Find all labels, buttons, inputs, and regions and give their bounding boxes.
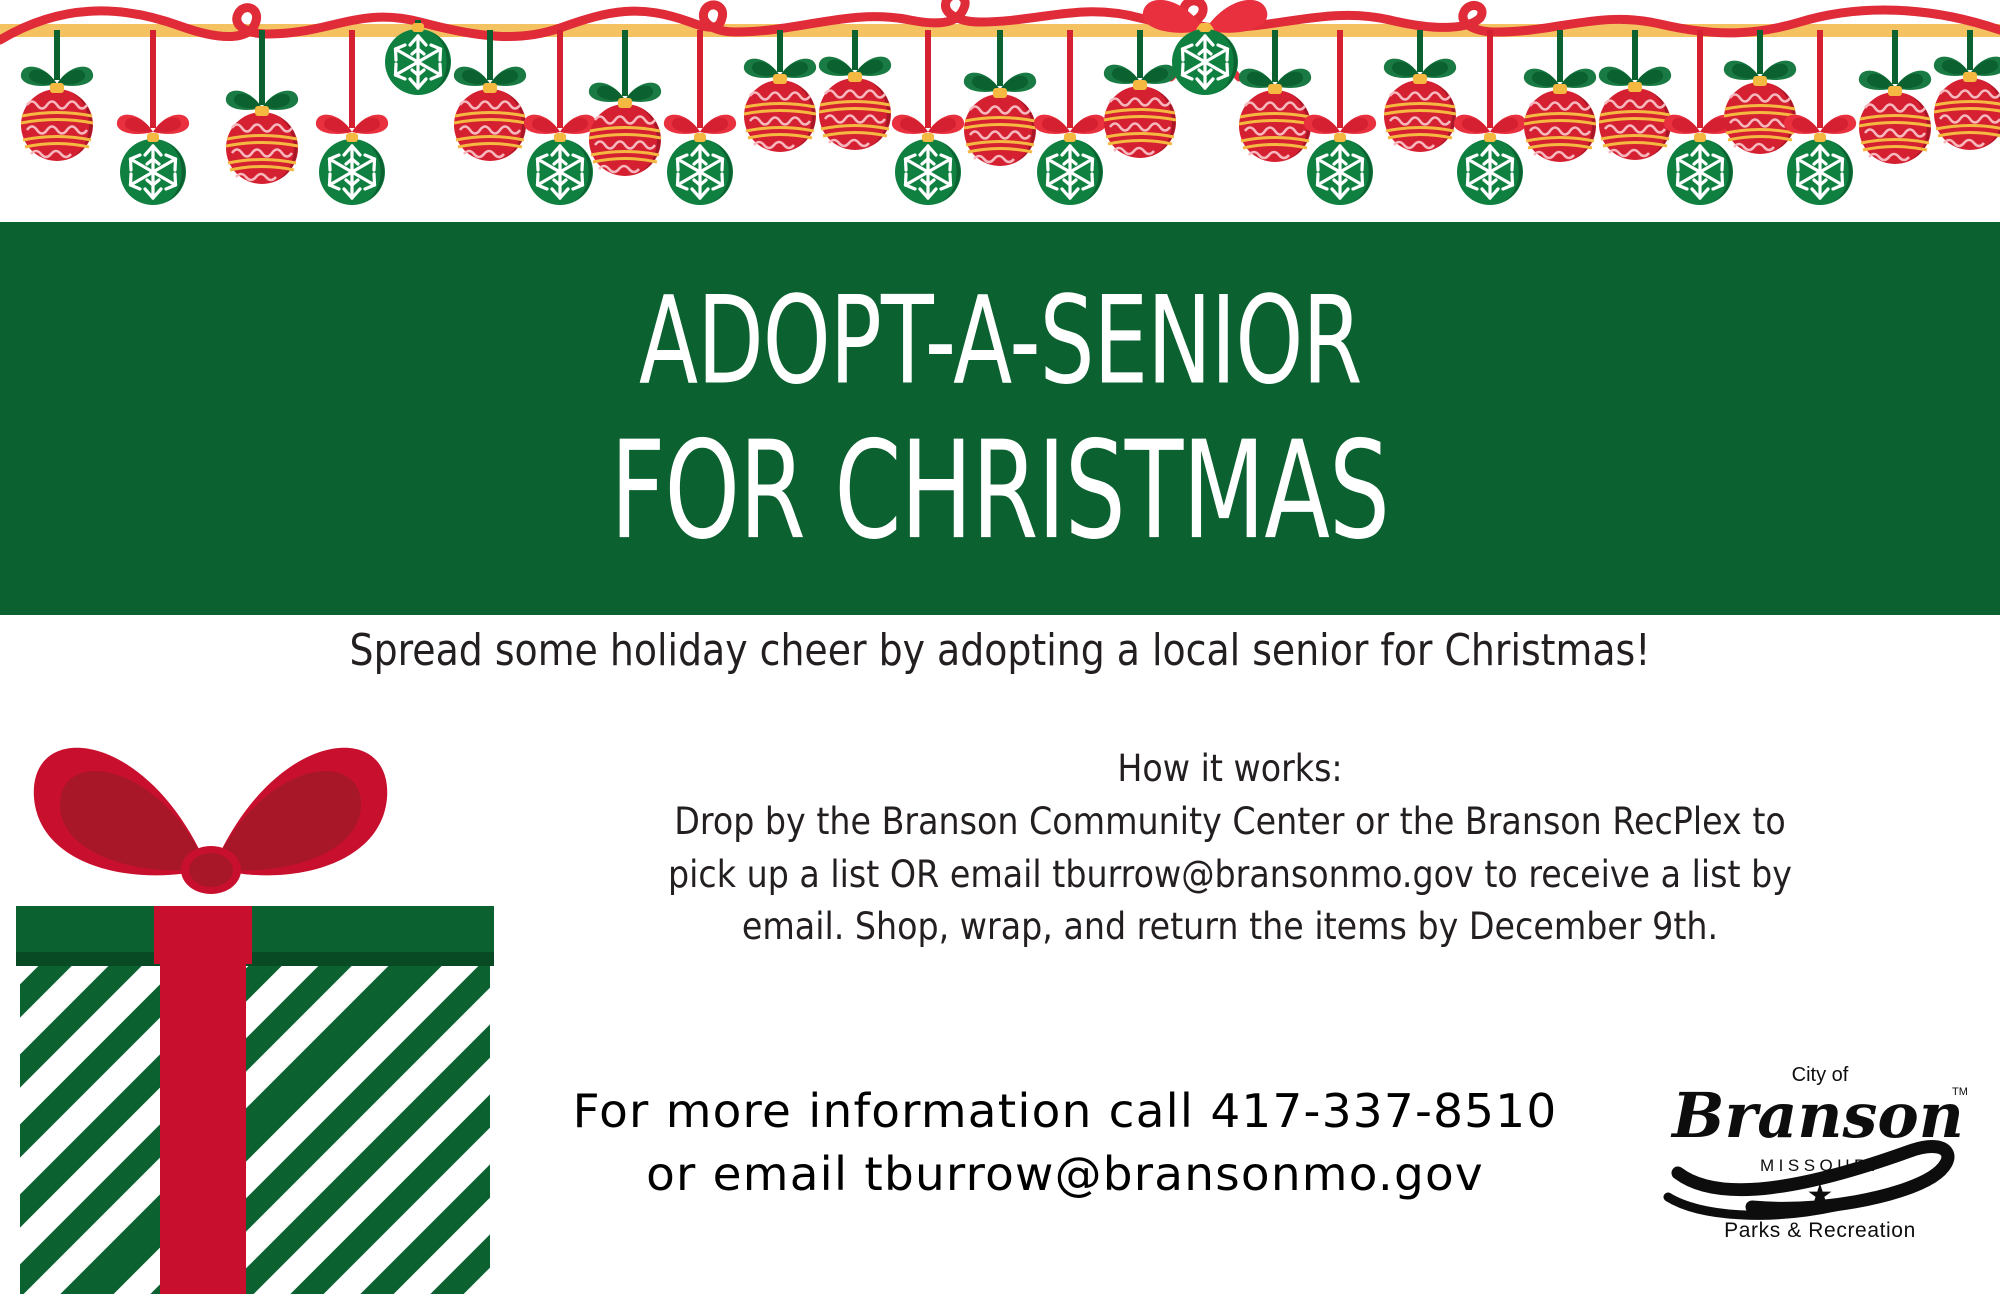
wrapped-gift-box-icon xyxy=(8,718,508,1294)
logo-star-icon: ★ xyxy=(1807,1178,1834,1213)
branson-parks-recreation-logo: City of Branson TM MISSOURI ★ Parks & Re… xyxy=(1660,1055,1990,1255)
logo-department: Parks & Recreation xyxy=(1724,1219,1916,1242)
logo-state: MISSOURI xyxy=(1760,1156,1880,1175)
how-it-works-paragraph: Drop by the Branson Community Center or … xyxy=(591,796,1869,954)
contact-block: For more information call 417-337-8510 o… xyxy=(468,1080,1661,1205)
branson-logo-svg: City of Branson TM MISSOURI ★ Parks & Re… xyxy=(1660,1055,1990,1255)
gift-ribbon-vertical xyxy=(160,954,246,1294)
how-it-works-heading: How it works: xyxy=(591,745,1869,792)
contact-email-line: or email tburrow@bransonmo.gov xyxy=(468,1143,1661,1206)
garland-svg xyxy=(0,0,2000,222)
gift-ribbon-lid xyxy=(154,906,252,964)
page-title-line-1: ADOPT-A-SENIOR xyxy=(639,284,1361,399)
body-line-1: Drop by the Branson Community Center or … xyxy=(591,796,1869,849)
body-copy: How it works: Drop by the Branson Commun… xyxy=(520,745,1940,954)
title-banner: ADOPT-A-SENIOR FOR CHRISTMAS xyxy=(0,222,2000,615)
gift-box-svg xyxy=(8,718,508,1294)
logo-brand-name: Branson xyxy=(1670,1079,1964,1152)
subtitle-text: Spread some holiday cheer by adopting a … xyxy=(140,625,1860,676)
ornament-garland xyxy=(0,0,2000,222)
logo-trademark: TM xyxy=(1952,1086,1968,1098)
gift-box-lid-shadow xyxy=(16,952,494,966)
ornament-group xyxy=(21,20,2000,205)
body-line-3: email. Shop, wrap, and return the items … xyxy=(591,901,1869,954)
gift-bow xyxy=(34,748,387,894)
page-title-line-2: FOR CHRISTMAS xyxy=(611,426,1390,554)
body-line-2: pick up a list OR email tburrow@bransonm… xyxy=(591,849,1869,902)
contact-phone-line: For more information call 417-337-8510 xyxy=(468,1080,1661,1143)
